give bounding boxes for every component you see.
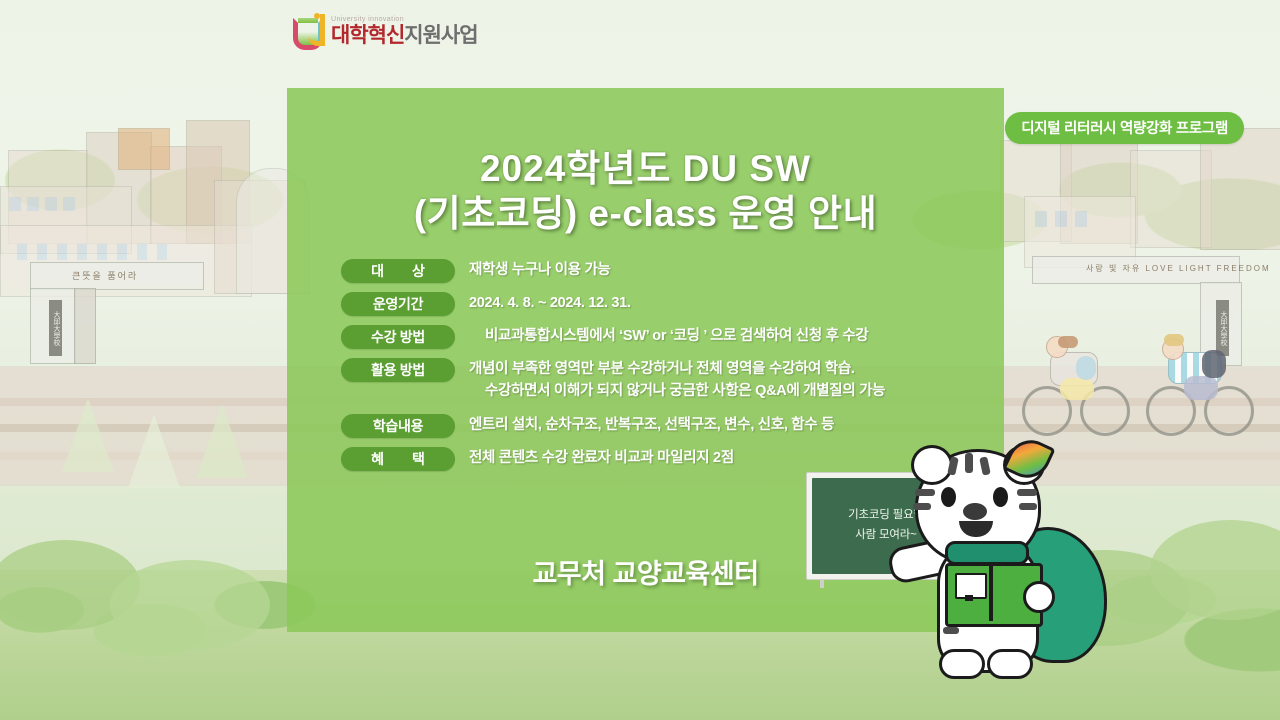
rider-legs [1184,376,1218,400]
info-row: 혜 택 전체 콘텐츠 수강 완료자 비교과 마일리지 2점 [341,447,981,471]
info-row-label: 수강 방법 [341,325,455,349]
cyclist-left [1020,330,1140,440]
info-row-line: 수강하면서 이해가 되지 않거나 궁금한 사항은 Q&A에 개별질의 가능 [469,380,981,402]
mascot-ear-left [911,445,953,485]
program-badge: 디지털 리터러시 역량강화 프로그램 [1005,112,1244,144]
info-row-line: 2024. 4. 8. ~ 2024. 12. 31. [469,292,981,314]
mascot-foot-right [987,649,1033,679]
white-tiger-mascot [905,443,1120,693]
info-row-line: 개념이 부족한 영역만 부분 수강하거나 전체 영역을 수강하여 학습. [469,358,981,380]
logo-korean-primary: 대학혁신 [331,24,404,47]
info-row: 대 상 재학생 누구나 이용 가능 [341,259,981,283]
info-row-value: 개념이 부족한 영역만 부분 수강하거나 전체 영역을 수강하여 학습. 수강하… [469,358,981,403]
mascot-nose [963,503,987,520]
conifer-tree [62,398,114,472]
mascot-cheek-stripe [1017,489,1037,496]
info-row: 학습내용 엔트리 설치, 순차구조, 반복구조, 선택구조, 변수, 신호, 함… [341,414,981,438]
info-row: 활용 방법 개념이 부족한 영역만 부분 수강하거나 전체 영역을 수강하여 학… [341,358,981,403]
conifer-tree [196,404,248,478]
logo-korean-secondary: 지원사업 [404,24,477,47]
rider-backpack [1076,356,1096,380]
book-spine [989,563,993,621]
info-row-label: 활용 방법 [341,358,455,382]
left-gate-vertical-sign: 大邱大學校 [49,300,62,356]
info-row: 운영기간 2024. 4. 8. ~ 2024. 12. 31. [341,292,981,316]
left-gate-sign-text: 큰뜻을 품어라 [72,269,138,282]
title-line-1: 2024학년도 DU SW [480,148,811,189]
background-building [118,128,170,170]
logo-j-dot [314,13,320,19]
info-row-label: 혜 택 [341,447,455,471]
mascot-hand [1023,581,1055,613]
mascot-head-stripe [965,453,973,473]
info-row: 수강 방법 비교과통합시스템에서 ‘SW’ or ‘코딩 ’ 으로 검색하여 신… [341,325,981,349]
mascot-cheek-stripe [1019,503,1037,510]
mascot-eye-left [941,487,956,507]
uj-monogram-icon [293,14,325,48]
logo-english-text: University innovation [331,16,478,23]
info-row-label: 대 상 [341,259,455,283]
info-row-value: 엔트리 설치, 순차구조, 반복구조, 선택구조, 변수, 신호, 함수 등 [469,414,981,436]
logo-korean-text: 대학혁신지원사업 [331,25,478,46]
rider-hair [1164,334,1184,346]
info-row-label: 학습내용 [341,414,455,438]
mascot-eye-right [993,487,1008,507]
info-row-list: 대 상 재학생 누구나 이용 가능 운영기간 2024. 4. 8. ~ 202… [341,259,981,480]
cyclist-right [1142,330,1262,440]
page-title: 2024학년도 DU SW (기초코딩) e-class 운영 안내 [287,146,1004,236]
info-row-label: 운영기간 [341,292,455,316]
logo-wordmark: University innovation 대학혁신지원사업 [331,16,478,46]
mascot-body-stripe [943,627,959,634]
mascot-cheek-stripe [915,489,935,496]
mascot-scarf [945,541,1029,565]
info-row-line: 비교과통합시스템에서 ‘SW’ or ‘코딩 ’ 으로 검색하여 신청 후 수강 [469,325,981,347]
poster-canvas: 큰뜻을 품어라 大邱大學校 사랑 빛 자유 LOVE LIGHT FREEDOM… [0,0,1280,720]
university-innovation-logo: University innovation 대학혁신지원사업 [293,14,478,48]
mascot-foot-left [939,649,985,679]
info-row-value: 재학생 누구나 이용 가능 [469,259,981,281]
background-building [1200,128,1280,250]
rider-hair [1058,336,1078,348]
conifer-tree [128,414,180,488]
left-gate-pillar [74,288,96,364]
rider-backpack [1202,350,1226,378]
monitor-stand [965,595,973,601]
info-row-line: 엔트리 설치, 순차구조, 반복구조, 선택구조, 변수, 신호, 함수 등 [469,414,981,436]
right-gate-sign-text: 사랑 빛 자유 LOVE LIGHT FREEDOM [1086,263,1271,274]
title-line-2: (기초코딩) e-class 운영 안내 [414,193,877,234]
info-row-line: 재학생 누구나 이용 가능 [469,259,981,281]
hedge-bush [110,560,270,650]
rider-legs [1060,378,1094,400]
info-row-value: 2024. 4. 8. ~ 2024. 12. 31. [469,292,981,314]
info-row-value: 비교과통합시스템에서 ‘SW’ or ‘코딩 ’ 으로 검색하여 신청 후 수강 [469,325,981,347]
mascot-cheek-stripe [913,503,931,510]
